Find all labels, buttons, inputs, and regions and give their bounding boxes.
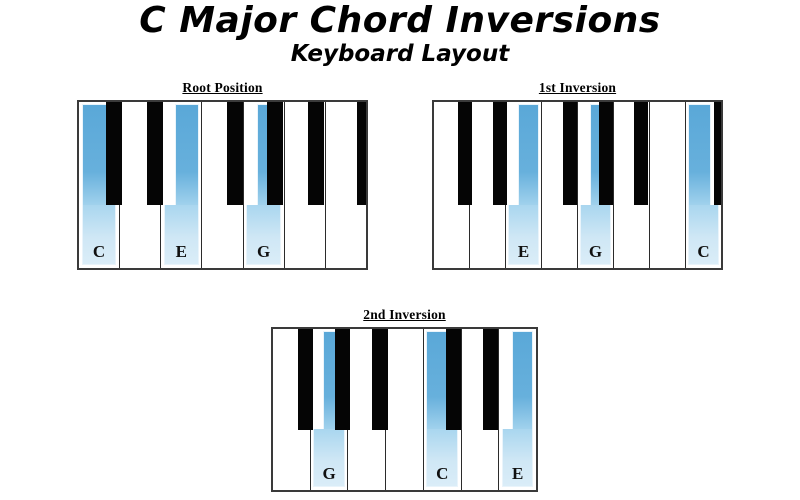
black-key-c-sharp[interactable]: [446, 329, 461, 430]
black-key-g-sharp[interactable]: [599, 102, 613, 205]
keyboard-panel-2nd-inversion: 2nd Inversion G C: [271, 307, 538, 492]
key-highlight-foot: [502, 429, 534, 487]
black-key-c-sharp[interactable]: [106, 102, 122, 205]
black-key-g-sharp[interactable]: [267, 102, 283, 205]
white-key-e[interactable]: E: [506, 102, 542, 268]
black-key-a-sharp[interactable]: [634, 102, 648, 205]
piano-keyboard-2nd-inversion[interactable]: G C E: [271, 327, 538, 492]
key-highlight-foot: [508, 205, 538, 265]
black-key-f-sharp[interactable]: [298, 329, 313, 430]
white-key-b[interactable]: [650, 102, 686, 268]
page-title: C Major Chord Inversions: [0, 2, 800, 40]
key-highlight-foot: [313, 429, 345, 487]
piano-keyboard-1st-inversion[interactable]: E G C: [432, 100, 723, 270]
piano-keyboard-root-position[interactable]: C E G: [77, 100, 368, 270]
black-key-a-sharp[interactable]: [308, 102, 324, 205]
white-key-e[interactable]: E: [161, 102, 202, 268]
black-key-c-sharp[interactable]: [458, 102, 472, 205]
black-key-f-sharp[interactable]: [563, 102, 577, 205]
white-key-e[interactable]: E: [499, 329, 536, 490]
key-highlight-foot: [82, 205, 117, 265]
title-block: C Major Chord Inversions Keyboard Layout: [0, 0, 800, 67]
white-key-row: E G C: [434, 102, 721, 268]
key-highlight-foot: [246, 205, 281, 265]
key-highlight-foot: [580, 205, 610, 265]
white-key-b[interactable]: [386, 329, 424, 490]
black-key-a-sharp[interactable]: [372, 329, 387, 430]
keyboard-panel-1st-inversion: 1st Inversion E G C: [432, 80, 723, 270]
key-highlight-foot: [164, 205, 199, 265]
black-key-d-sharp[interactable]: [483, 329, 498, 430]
black-key-c-sharp-upper[interactable]: [714, 102, 721, 205]
keyboard-panel-root-position: Root Position C E G: [77, 80, 368, 270]
page-subtitle: Keyboard Layout: [0, 42, 800, 67]
key-highlight-foot: [688, 205, 718, 265]
black-key-d-sharp[interactable]: [493, 102, 507, 205]
keyboard-caption-root-position: Root Position: [77, 80, 368, 96]
black-key-g-sharp[interactable]: [335, 329, 350, 430]
black-key-f-sharp[interactable]: [227, 102, 243, 205]
key-highlight-foot: [426, 429, 458, 487]
keyboard-caption-1st-inversion: 1st Inversion: [432, 80, 723, 96]
keyboard-caption-2nd-inversion: 2nd Inversion: [271, 307, 538, 323]
black-key-d-sharp[interactable]: [147, 102, 163, 205]
black-key-c-sharp-upper[interactable]: [357, 102, 366, 205]
